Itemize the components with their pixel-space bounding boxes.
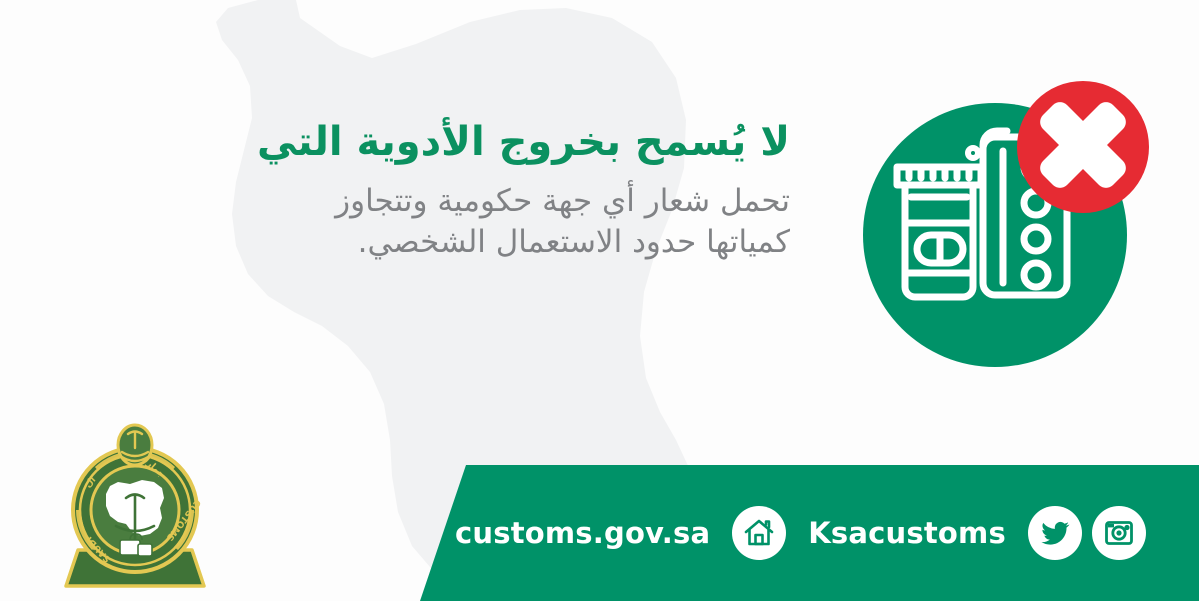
instagram-icon-button[interactable]: [1092, 506, 1146, 560]
subheadline: تحمل شعار أي جهة حكومية وتتجاوز كمياتها …: [110, 181, 790, 264]
awareness-banner: لا يُسمح بخروج الأدوية التي تحمل شعار أي…: [0, 0, 1199, 601]
medicine-prohibited-icon: [855, 75, 1155, 375]
home-icon: [742, 516, 776, 550]
headline: لا يُسمح بخروج الأدوية التي: [110, 118, 790, 167]
instagram-icon: [1103, 517, 1135, 549]
red-x-badge: [1017, 81, 1149, 213]
footer-content: customs.gov.sa Ksacustoms: [455, 465, 1199, 601]
handle-label[interactable]: Ksacustoms: [808, 516, 1006, 550]
twitter-icon-button[interactable]: [1028, 506, 1082, 560]
website-label[interactable]: customs.gov.sa: [455, 516, 710, 550]
saudi-customs-emblem: ال جمارك SAUDI CUSTOMS: [54, 418, 216, 590]
home-icon-button[interactable]: [732, 506, 786, 560]
message-block: لا يُسمح بخروج الأدوية التي تحمل شعار أي…: [110, 118, 790, 264]
twitter-icon: [1039, 517, 1071, 549]
